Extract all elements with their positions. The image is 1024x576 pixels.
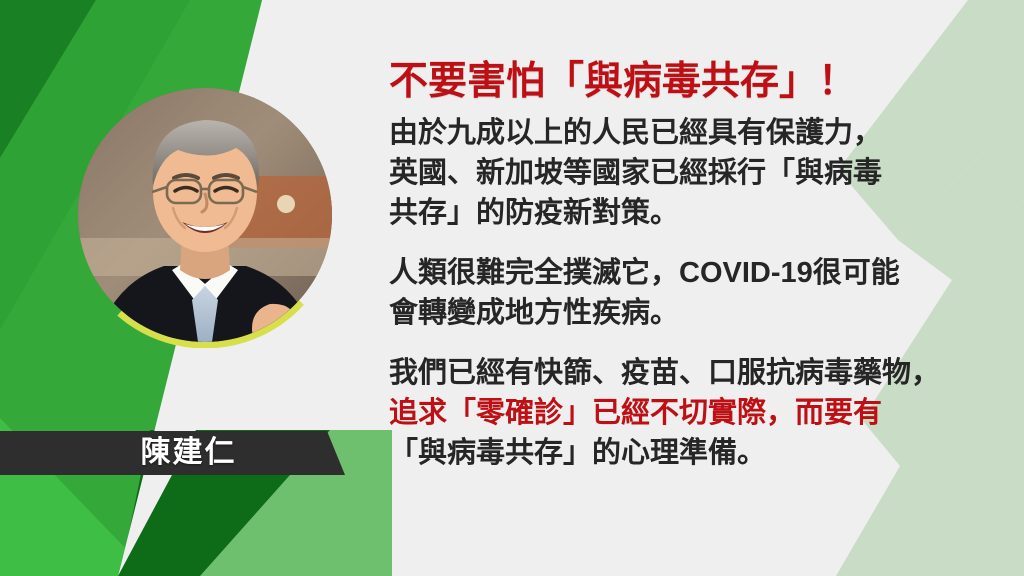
paragraph-2: 人類很難完全撲滅它，COVID-19很可能 會轉變成地方性疾病。 bbox=[389, 253, 999, 333]
paragraph-3-line-3: 「與病毒共存」的心理準備。 bbox=[389, 433, 999, 473]
paragraph-3-line-2-highlight: 追求「零確診」已經不切實際，而要有 bbox=[389, 393, 999, 433]
portrait-bg-light bbox=[277, 195, 295, 213]
paragraph-3: 我們已經有快篩、疫苗、口服抗病毒藥物， 追求「零確診」已經不切實際，而要有 「與… bbox=[389, 353, 999, 473]
paragraph-1-line-1: 由於九成以上的人民已經具有保護力， bbox=[389, 113, 999, 153]
paragraph-3-line-1: 我們已經有快篩、疫苗、口服抗病毒藥物， bbox=[389, 353, 999, 393]
news-quote-card: 陳建仁 不要害怕「與病毒共存」！ 由於九成以上的人民已經具有保護力， 英國、新加… bbox=[0, 0, 1024, 576]
paragraph-1-line-3: 共存」的防疫新對策。 bbox=[389, 193, 999, 233]
speaker-name: 陳建仁 bbox=[81, 438, 265, 468]
speaker-name-banner: 陳建仁 bbox=[0, 431, 345, 475]
paragraph-2-line-1: 人類很難完全撲滅它，COVID-19很可能 bbox=[389, 253, 999, 293]
portrait-illustration bbox=[78, 88, 332, 342]
paragraph-1-line-2: 英國、新加坡等國家已經採行「與病毒 bbox=[389, 153, 999, 193]
speaker-portrait bbox=[78, 88, 332, 342]
quote-content: 不要害怕「與病毒共存」！ 由於九成以上的人民已經具有保護力， 英國、新加坡等國家… bbox=[389, 62, 999, 487]
paragraph-1: 由於九成以上的人民已經具有保護力， 英國、新加坡等國家已經採行「與病毒 共存」的… bbox=[389, 113, 999, 233]
paragraph-2-line-2: 會轉變成地方性疾病。 bbox=[389, 293, 999, 333]
headline: 不要害怕「與病毒共存」！ bbox=[389, 62, 999, 103]
